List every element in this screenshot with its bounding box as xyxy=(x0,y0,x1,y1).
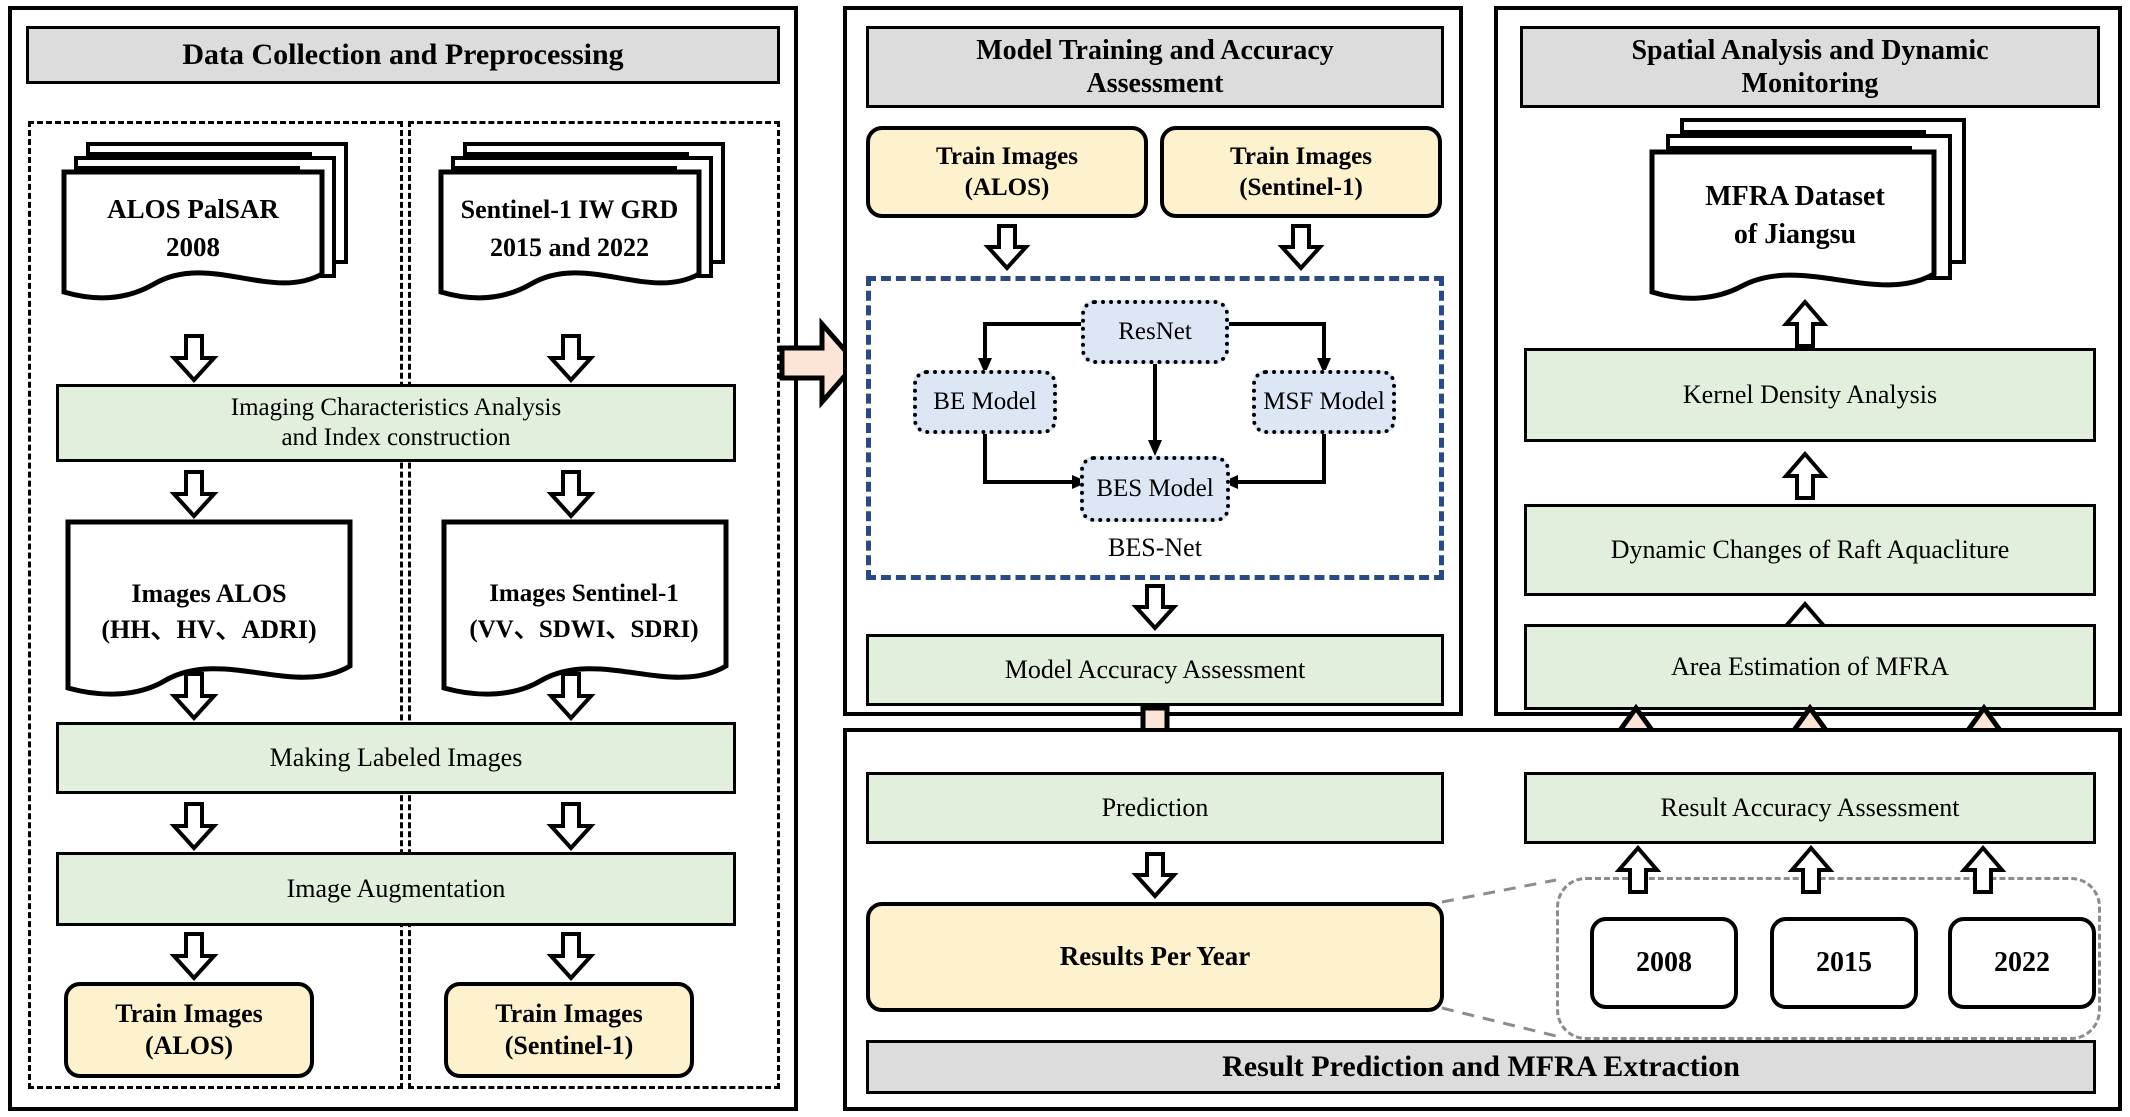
box-train-images-sentinel-source-line2: (Sentinel-1) xyxy=(505,1030,634,1063)
box-train-images-sentinel-input-line2: (Sentinel-1) xyxy=(1239,172,1363,203)
panel-model-training-title: Model Training and Accuracy Assessment xyxy=(866,26,1444,108)
arrow-down-augmentation-to-train-sentinel xyxy=(549,932,593,980)
box-train-images-alos-source-line2: (ALOS) xyxy=(145,1030,233,1063)
arrow-down-imaging-to-images-alos xyxy=(172,470,216,518)
panel-data-collection-title: Data Collection and Preprocessing xyxy=(26,26,780,84)
box-model-accuracy-assessment: Model Accuracy Assessment xyxy=(866,634,1444,706)
arrow-down-besnet-to-accuracy xyxy=(1134,584,1176,630)
box-train-images-sentinel-source-line1: Train Images xyxy=(495,998,643,1031)
arrow-down-labeled-to-augmentation-right xyxy=(549,802,593,850)
arrow-down-train-sentinel-to-besnet xyxy=(1280,224,1322,270)
arrow-up-year-2015-to-accuracy xyxy=(1790,846,1832,894)
besnet-label: BES-Net xyxy=(1080,528,1230,568)
box-area-estimation-mfra: Area Estimation of MFRA xyxy=(1524,624,2096,710)
box-results-per-year: Results Per Year xyxy=(866,902,1444,1012)
arrow-down-train-alos-to-besnet xyxy=(986,224,1028,270)
box-dynamic-changes-raft: Dynamic Changes of Raft Aquacliture xyxy=(1524,504,2096,596)
box-train-images-alos-source-line1: Train Images xyxy=(115,998,263,1031)
panel-model-training-title-line2: Assessment xyxy=(1087,67,1224,100)
box-train-images-sentinel-source: Train Images (Sentinel-1) xyxy=(444,982,694,1078)
arrow-down-alos-to-imaging xyxy=(172,334,216,382)
arrow-up-kernel-to-dataset xyxy=(1784,300,1826,348)
document-alos-palsar xyxy=(58,134,358,314)
box-year-2022: 2022 xyxy=(1948,917,2096,1009)
box-train-images-alos-input-line2: (ALOS) xyxy=(965,172,1050,203)
node-bes-model: BES Model xyxy=(1080,456,1230,522)
panel-model-training-title-line1: Model Training and Accuracy xyxy=(976,34,1334,67)
box-prediction: Prediction xyxy=(866,772,1444,844)
arrow-down-labeled-to-augmentation-left xyxy=(172,802,216,850)
box-kernel-density-analysis: Kernel Density Analysis xyxy=(1524,348,2096,442)
box-image-augmentation: Image Augmentation xyxy=(56,852,736,926)
node-be-model: BE Model xyxy=(913,370,1057,434)
box-imaging-characteristics-line1: Imaging Characteristics Analysis xyxy=(231,393,561,423)
box-train-images-sentinel-input: Train Images (Sentinel-1) xyxy=(1160,126,1442,218)
box-result-accuracy-assessment: Result Accuracy Assessment xyxy=(1524,772,2096,844)
arrow-down-prediction-to-results xyxy=(1134,852,1176,898)
panel-result-prediction-title: Result Prediction and MFRA Extraction xyxy=(866,1040,2096,1094)
box-imaging-characteristics: Imaging Characteristics Analysis and Ind… xyxy=(56,384,736,462)
panel-spatial-analysis-title: Spatial Analysis and Dynamic Monitoring xyxy=(1520,26,2100,108)
box-year-2008: 2008 xyxy=(1590,917,1738,1009)
box-imaging-characteristics-line2: and Index construction xyxy=(281,423,510,453)
box-train-images-alos-source: Train Images (ALOS) xyxy=(64,982,314,1078)
arrow-down-augmentation-to-train-alos xyxy=(172,932,216,980)
box-train-images-alos-input-line1: Train Images xyxy=(936,141,1078,172)
year-group-callout-lines xyxy=(1440,880,1560,1040)
arrow-down-sentinel-to-imaging xyxy=(549,334,593,382)
box-train-images-alos-input: Train Images (ALOS) xyxy=(866,126,1148,218)
box-making-labeled-images: Making Labeled Images xyxy=(56,722,736,794)
arrow-up-dynamic-to-kernel xyxy=(1784,452,1826,500)
document-mfra-dataset xyxy=(1646,114,1976,320)
document-sentinel-1 xyxy=(435,134,735,314)
panel-spatial-analysis-title-line2: Monitoring xyxy=(1742,67,1879,100)
arrow-down-imaging-to-images-sentinel xyxy=(549,470,593,518)
node-resnet: ResNet xyxy=(1081,300,1229,364)
arrow-up-year-2022-to-accuracy xyxy=(1962,846,2004,894)
panel-spatial-analysis-title-line1: Spatial Analysis and Dynamic xyxy=(1631,34,1988,67)
box-year-2015: 2015 xyxy=(1770,917,1918,1009)
box-train-images-sentinel-input-line1: Train Images xyxy=(1230,141,1372,172)
arrow-down-images-alos-to-labeled xyxy=(172,672,216,720)
arrow-up-year-2008-to-accuracy xyxy=(1617,846,1659,894)
arrow-down-images-sentinel-to-labeled xyxy=(549,672,593,720)
node-msf-model: MSF Model xyxy=(1252,370,1396,434)
